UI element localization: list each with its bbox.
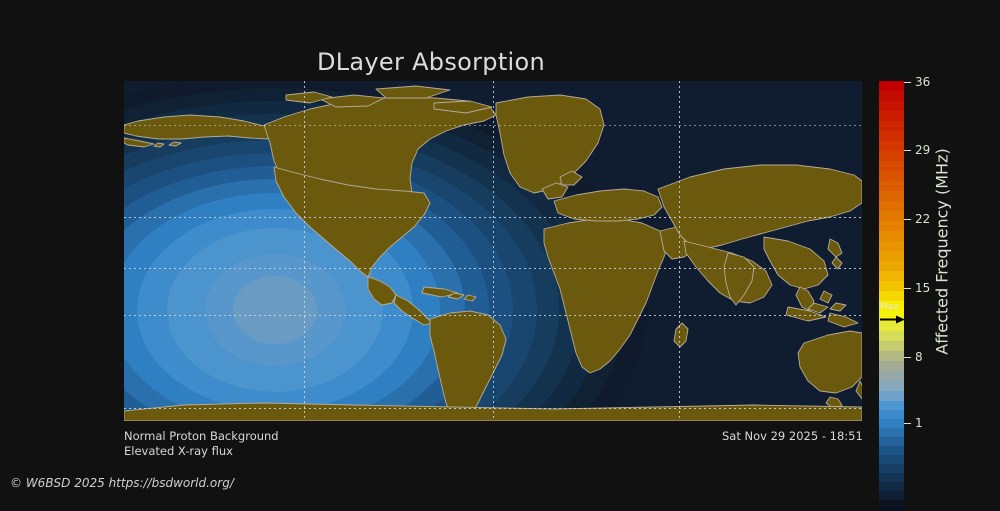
timestamp-text: Sat Nov 29 2025 - 18:51 xyxy=(722,429,863,444)
colorbar-axis-label: Affected Frequency (MHz) xyxy=(930,81,954,422)
world-absorption-map xyxy=(124,81,862,421)
tick-dash xyxy=(904,357,911,358)
proton-status-text: Normal Proton Background xyxy=(124,429,279,444)
colorbar-tick: 22 xyxy=(904,212,930,226)
colorbar-tick: 8 xyxy=(904,350,923,364)
page-title: DLayer Absorption xyxy=(0,48,862,76)
colorbar-tick: 36 xyxy=(904,75,930,89)
tick-dash xyxy=(904,150,911,151)
copyright-footer: © W6BSD 2025 https://bsdworld.org/ xyxy=(10,476,234,490)
xray-status-text: Elevated X-ray flux xyxy=(124,444,279,459)
tick-dash xyxy=(904,219,911,220)
colorbar-axis-label-text: Affected Frequency (MHz) xyxy=(933,148,952,354)
tick-dash xyxy=(904,82,911,83)
tick-label: 1 xyxy=(915,416,923,430)
tick-label: 22 xyxy=(915,212,930,226)
tick-label: 36 xyxy=(915,75,930,89)
colorbar-tick: 15 xyxy=(904,281,930,295)
colorbar-tick: 29 xyxy=(904,143,930,157)
status-captions: Normal Proton Background Elevated X-ray … xyxy=(124,429,279,459)
tick-label: 29 xyxy=(915,143,930,157)
colorbar: 36 29 22 15 8 1 xyxy=(879,81,904,422)
figure-root: DLayer Absorption xyxy=(0,0,1000,500)
colorbar-gradient xyxy=(879,81,904,422)
tick-label: 15 xyxy=(915,281,930,295)
tick-dash xyxy=(904,288,911,289)
tick-label: 8 xyxy=(915,350,923,364)
tick-dash xyxy=(904,423,911,424)
map-canvas xyxy=(124,81,862,421)
colorbar-tick: 1 xyxy=(904,416,923,430)
